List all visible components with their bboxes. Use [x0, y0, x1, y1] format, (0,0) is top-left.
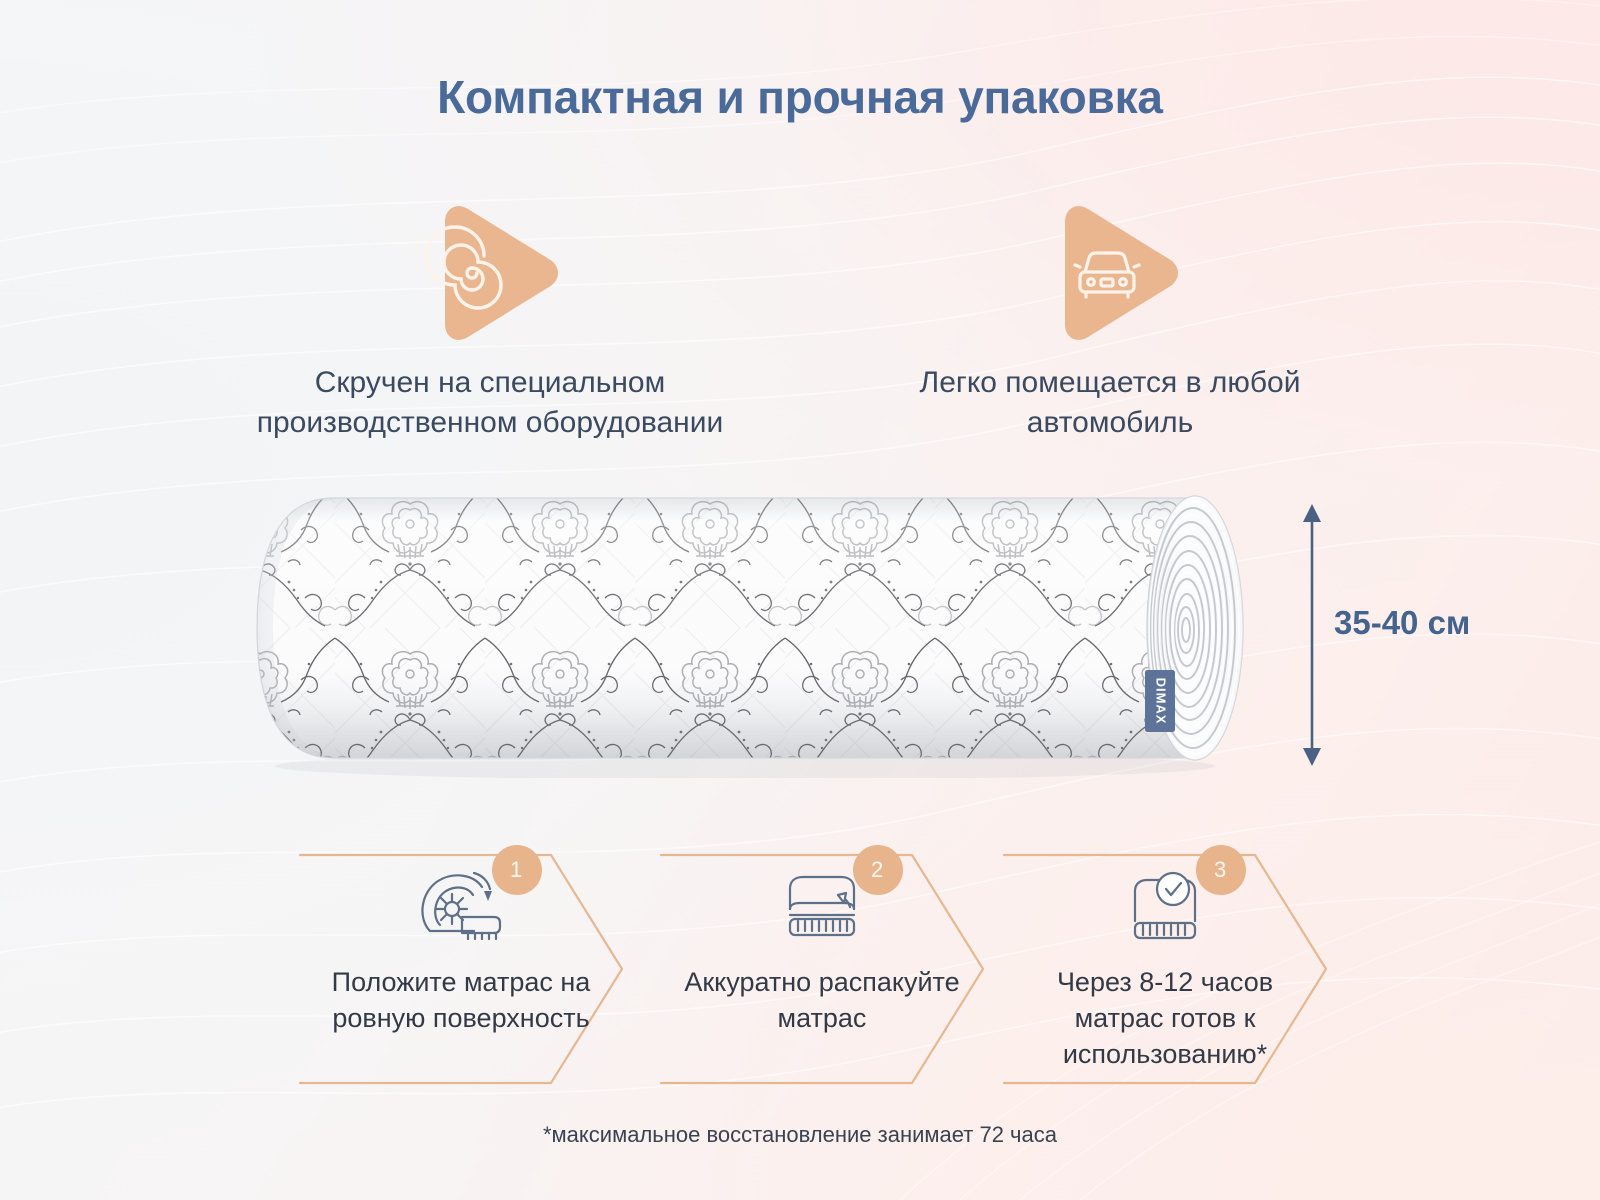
steps-row: Положите матрас на ровную поверхность 1 — [0, 845, 1600, 1095]
step-card-3[interactable]: Через 8-12 часов матрас готов к использо… — [1000, 845, 1330, 1093]
step-number-3: 3 — [1214, 857, 1226, 883]
spiral-roll-icon — [415, 200, 565, 340]
page-title: Компактная и прочная упаковка — [0, 70, 1600, 124]
brand-label-text: DIMAX — [1154, 678, 1169, 725]
step-number-2: 2 — [871, 857, 883, 883]
step-text-1: Положите матрас на ровную поверхность — [311, 965, 611, 1037]
feature-caption-1: Скручен на специальном производственном … — [200, 363, 780, 442]
feature-block-rolled: Скручен на специальном производственном … — [200, 195, 780, 442]
mattress-roll-svg: DIMAX — [185, 478, 1245, 778]
brand-label-dimax: DIMAX — [1145, 670, 1175, 732]
dimension-indicator: 35-40 см — [1290, 500, 1540, 770]
feature-icon-wrap-2 — [890, 195, 1330, 345]
step-text-2: Аккуратно распакуйте матрас — [672, 965, 972, 1037]
car-icon — [1035, 200, 1185, 340]
dimension-label: 35-40 см — [1334, 604, 1470, 642]
step-number-1: 1 — [510, 857, 522, 883]
mattress-fabric-body — [245, 488, 1215, 768]
step-text-3: Через 8-12 часов матрас готов к использо… — [1015, 965, 1315, 1073]
footnote: *максимальное восстановление занимает 72… — [0, 1122, 1600, 1148]
step-card-1[interactable]: Положите матрас на ровную поверхность 1 — [296, 845, 626, 1093]
rolled-mattress-image: DIMAX — [185, 478, 1245, 778]
feature-icon-wrap-1 — [200, 195, 780, 345]
feature-block-car: Легко помещается в любой автомобиль — [890, 195, 1330, 442]
feature-caption-2: Легко помещается в любой автомобиль — [890, 363, 1330, 442]
step-card-2[interactable]: Аккуратно распакуйте матрас 2 — [657, 845, 987, 1093]
